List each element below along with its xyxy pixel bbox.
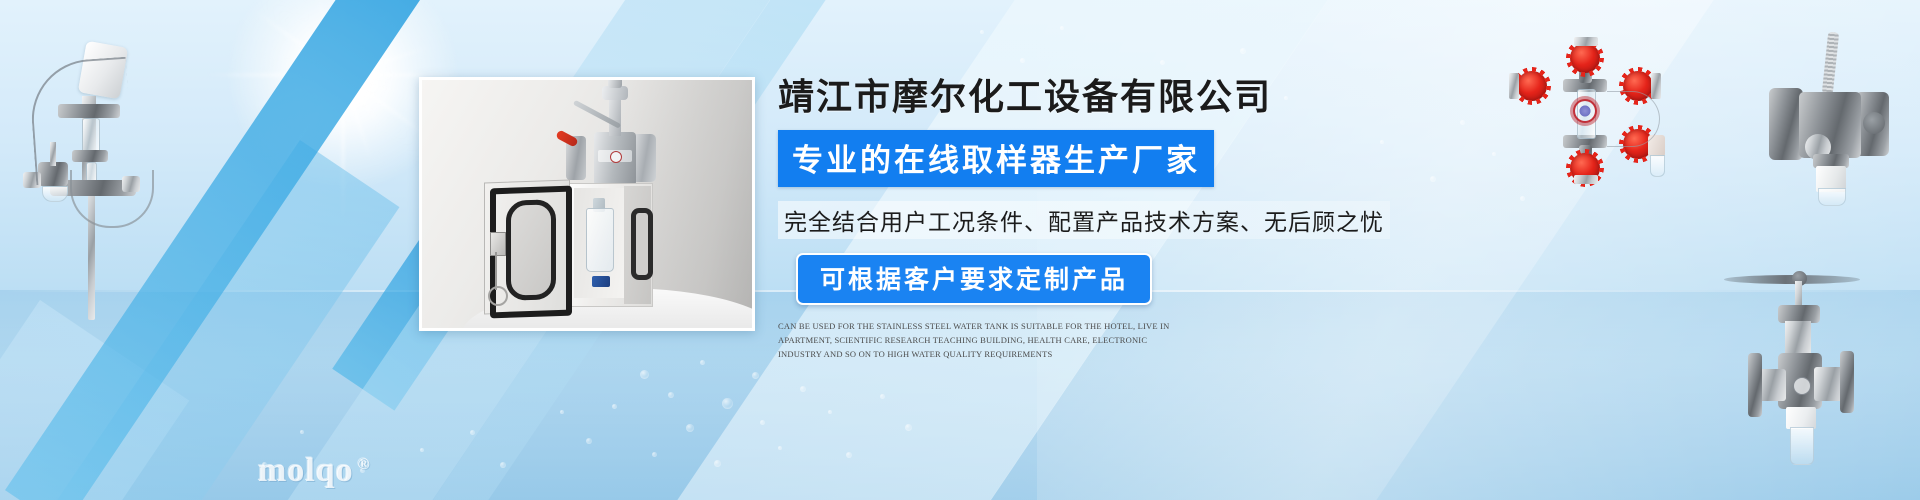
water-droplet [1460, 120, 1465, 125]
water-droplet [1160, 60, 1165, 65]
sub-headline: 完全结合用户工况条件、配置产品技术方案、无后顾之忧 [778, 201, 1390, 239]
water-droplet [722, 398, 733, 409]
water-droplet [586, 438, 592, 444]
water-droplet [420, 448, 424, 452]
water-droplet [1240, 48, 1246, 54]
water-droplet [980, 30, 984, 34]
cross-manifold-render [1495, 35, 1675, 185]
valve-flange-left [1748, 353, 1762, 417]
brand-seal-icon [1575, 101, 1595, 121]
water-droplet [500, 462, 506, 468]
sample-bottle [1650, 155, 1665, 177]
product-photo [419, 77, 755, 331]
cabinet-key [495, 252, 497, 290]
water-droplet [1020, 58, 1025, 63]
sample-bottle [1818, 188, 1846, 206]
valve-knob [608, 77, 622, 88]
water-droplet [640, 370, 649, 379]
valve-handwheel-icon [1570, 43, 1600, 73]
cabinet-lock [490, 232, 506, 256]
valve-flange-left [1769, 88, 1803, 160]
cabinet-handle [631, 208, 653, 280]
water-droplet [560, 410, 564, 414]
lever-handle [1822, 32, 1839, 95]
water-droplet [846, 452, 852, 458]
company-name: 靖江市摩尔化工设备有限公司 [778, 78, 1418, 118]
water-droplet [905, 424, 912, 431]
water-droplet [612, 404, 617, 409]
water-droplet [652, 452, 657, 457]
end-flange [1509, 73, 1519, 99]
brand-watermark: molqo® [258, 452, 371, 490]
tagline-badge: 专业的在线取样器生产厂家 [778, 130, 1214, 187]
water-droplet [800, 386, 806, 392]
left-equipment-render [10, 20, 190, 320]
sample-bottle [42, 186, 68, 202]
water-droplet [1520, 196, 1525, 201]
lever-valve-render [1755, 30, 1920, 215]
water-droplet [828, 410, 832, 414]
cabinet-window [506, 199, 556, 301]
banner-text-block: 靖江市摩尔化工设备有限公司 专业的在线取样器生产厂家 完全结合用户工况条件、配置… [778, 78, 1418, 361]
water-droplet [760, 420, 765, 425]
cabinet-keyring [488, 286, 508, 306]
english-caption: CAN BE USED FOR THE STAINLESS STEEL WATE… [778, 319, 1182, 361]
tubing-loop [28, 57, 134, 186]
brand-seal-icon [610, 151, 622, 163]
end-flange [1574, 37, 1598, 46]
handwheel-valve-render [1700, 265, 1920, 500]
sample-bottle [586, 208, 614, 272]
water-droplet [300, 430, 304, 434]
brand-seal-icon [1793, 377, 1811, 395]
water-droplet [470, 430, 475, 435]
water-droplet [1060, 26, 1064, 30]
valve-bonnet [602, 86, 628, 100]
sampler-valve-head [582, 90, 648, 188]
bottle-cap [592, 276, 610, 287]
promo-banner: 靖江市摩尔化工设备有限公司 专业的在线取样器生产厂家 完全结合用户工况条件、配置… [0, 0, 1920, 500]
valve-handwheel-icon [1517, 71, 1547, 101]
sample-bottle [1790, 427, 1814, 465]
water-droplet [880, 394, 885, 399]
water-droplet [1430, 176, 1436, 182]
water-droplet [714, 460, 721, 467]
registered-mark-icon: ® [358, 456, 371, 473]
valve-stem [609, 96, 621, 136]
water-droplet [668, 392, 674, 398]
valve-yoke [1785, 321, 1811, 355]
valve-flange-right [1840, 351, 1854, 413]
watermark-text: molqo [258, 452, 354, 489]
water-droplet [686, 424, 694, 432]
tubing-loop [70, 170, 154, 228]
water-droplet [778, 446, 782, 450]
end-flange [1574, 175, 1598, 184]
water-droplet [752, 372, 759, 379]
bottle-adapter [1786, 407, 1816, 429]
flange-bore [1863, 112, 1885, 134]
custom-product-badge[interactable]: 可根据客户要求定制产品 [796, 253, 1152, 305]
end-flange [1651, 73, 1661, 99]
water-droplet [700, 360, 705, 365]
